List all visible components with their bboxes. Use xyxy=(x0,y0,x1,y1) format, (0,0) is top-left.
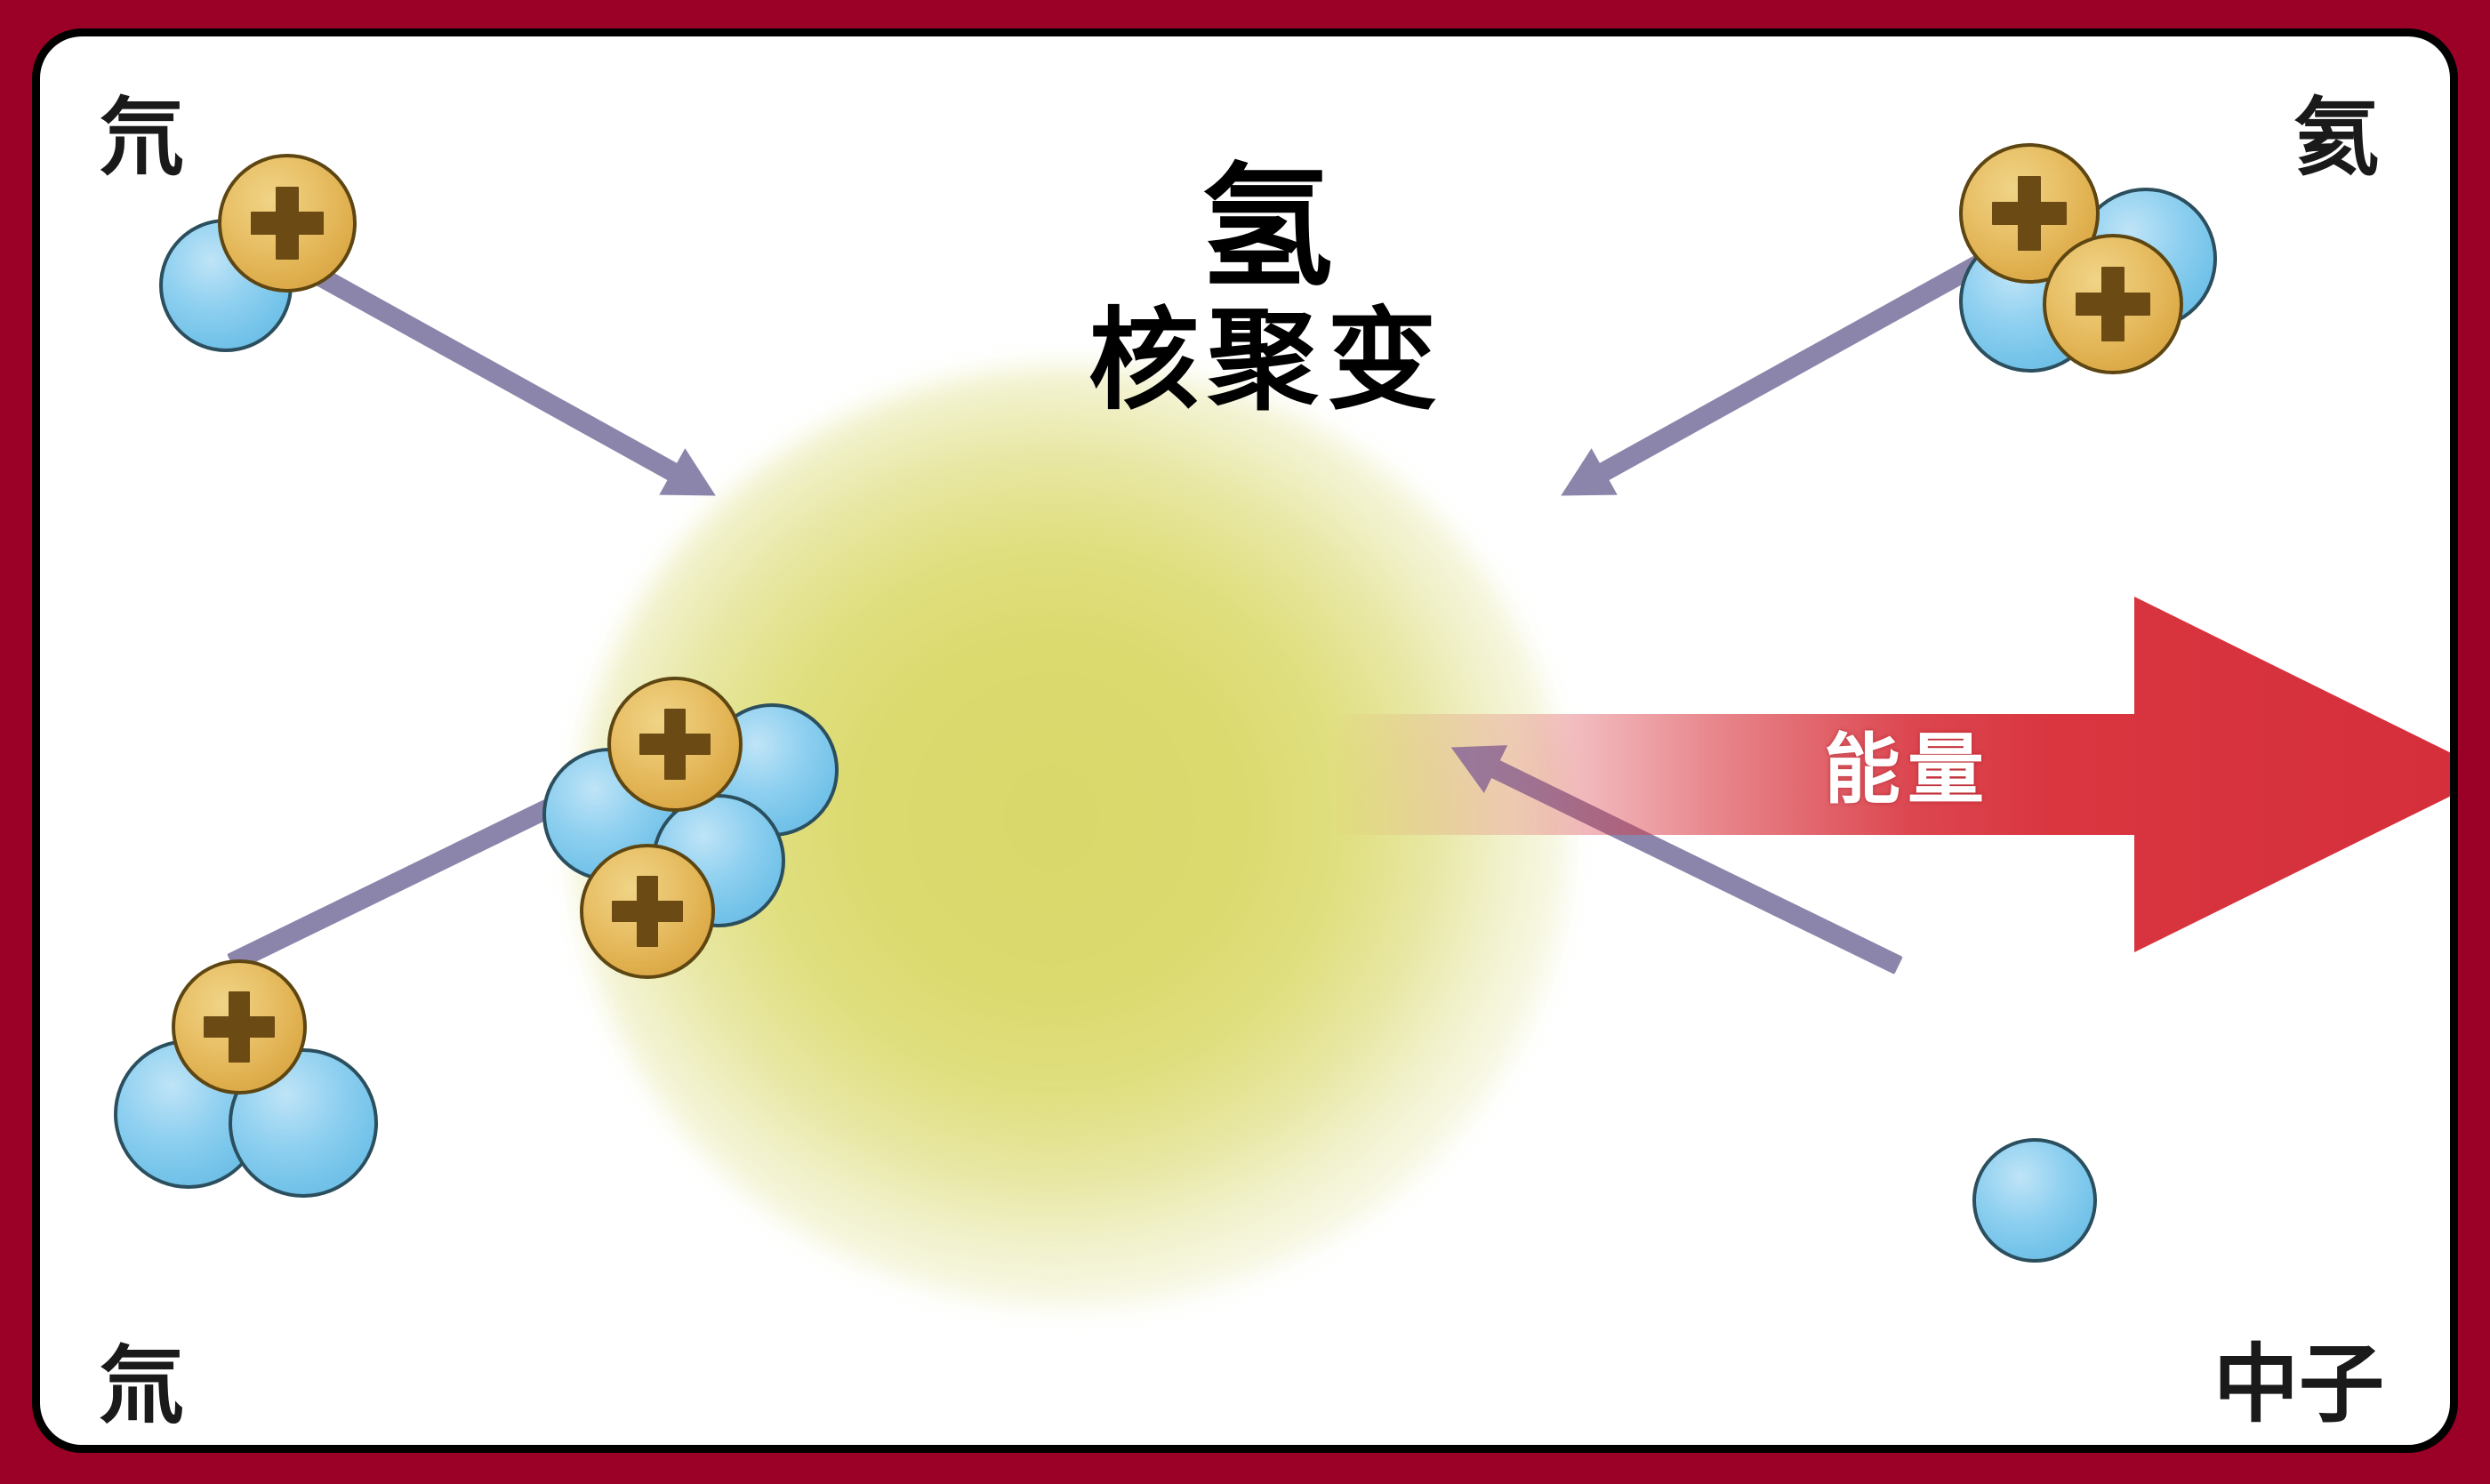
label-helium: 氦 xyxy=(2293,95,2379,180)
fusion-diagram: 氢 核聚变 氘 氚 氦 中子 xyxy=(0,0,2490,1484)
energy-arrow: 能量 xyxy=(1329,597,2458,952)
title-line-1: 氢 xyxy=(867,161,1667,297)
plus-icon xyxy=(611,680,739,808)
label-neutron: 中子 xyxy=(2213,1342,2384,1427)
proton-particle xyxy=(580,844,715,979)
proton-particle xyxy=(218,154,357,293)
proton-particle xyxy=(2043,234,2183,374)
neutron-particle xyxy=(1972,1138,2097,1263)
plus-icon xyxy=(583,847,711,975)
proton-particle xyxy=(607,677,743,812)
energy-label: 能量 xyxy=(1774,732,2041,808)
reaction-arrow-top-right xyxy=(1548,231,2010,519)
diagram-canvas: 氢 核聚变 氘 氚 氦 中子 xyxy=(32,28,2458,1453)
arrow-shaft xyxy=(1598,245,2001,481)
plus-icon xyxy=(2046,237,2180,371)
label-tritium: 氚 xyxy=(99,1344,184,1429)
label-deuterium: 氘 xyxy=(99,95,184,180)
plus-icon xyxy=(175,963,303,1091)
plus-icon xyxy=(221,157,353,289)
proton-particle xyxy=(172,959,307,1095)
